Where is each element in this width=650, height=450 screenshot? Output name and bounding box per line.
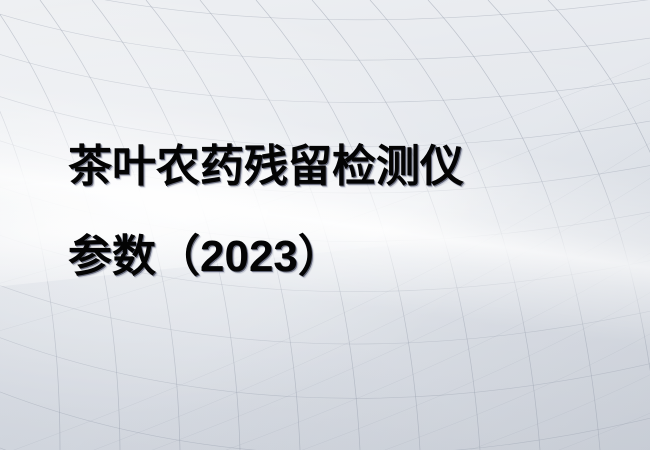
page-title: 茶叶农药残留检测仪 参数（2023） [68, 122, 628, 302]
title-line-2: 参数（2023） [68, 212, 628, 302]
title-line-1: 茶叶农药残留检测仪 [68, 122, 628, 212]
title-banner-image: 茶叶农药残留检测仪 参数（2023） [0, 0, 650, 450]
